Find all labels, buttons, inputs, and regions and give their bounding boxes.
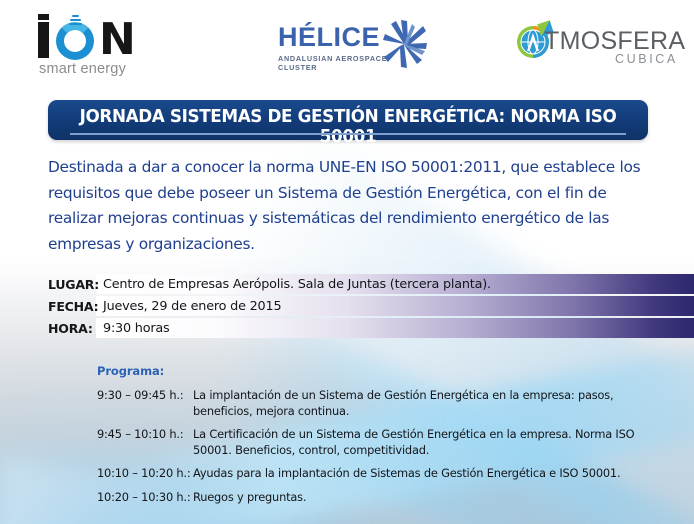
detail-row-lugar: LUGAR: Centro de Empresas Aerópolis. Sal… xyxy=(0,274,694,294)
event-details: LUGAR: Centro de Empresas Aerópolis. Sal… xyxy=(0,274,694,340)
detail-value-fecha: Jueves, 29 de enero de 2015 xyxy=(103,299,281,314)
helice-logo: HÉLICE ANDALUSIAN AEROSPACE CLUSTER xyxy=(278,22,428,78)
programa-item-time: 9:45 – 10:10 h.: xyxy=(97,427,193,458)
programa-item-time: 10:20 – 10:30 h.: xyxy=(97,490,193,506)
detail-value-lugar: Centro de Empresas Aerópolis. Sala de Ju… xyxy=(103,277,491,292)
programa-heading: Programa: xyxy=(97,364,657,378)
atmosfera-subtitle: CUBICA xyxy=(615,52,678,66)
detail-label-lugar: LUGAR: xyxy=(48,277,108,292)
title-underline xyxy=(70,133,626,135)
detail-row-hora: HORA: 9:30 horas xyxy=(0,318,694,338)
ion-letter-o-center xyxy=(66,32,84,50)
atmosfera-logo: TMOSFERA CUBICA xyxy=(516,22,676,72)
page-title: JORNADA SISTEMAS DE GESTIÓN ENERGÉTICA: … xyxy=(60,107,636,147)
ion-tagline: smart energy xyxy=(39,61,126,77)
ion-logo: N smart energy xyxy=(36,14,166,80)
programa-item-text: La Certificación de un Sistema de Gestió… xyxy=(193,427,657,458)
detail-label-hora: HORA: xyxy=(48,321,108,336)
programa-item-time: 9:30 – 09:45 h.: xyxy=(97,388,193,419)
ion-wordmark: N xyxy=(36,14,166,58)
ion-letter-i xyxy=(38,22,49,58)
title-banner: JORNADA SISTEMAS DE GESTIÓN ENERGÉTICA: … xyxy=(48,100,648,140)
programa-item: 10:10 – 10:20 h.: Ayudas para la implant… xyxy=(97,466,657,482)
ion-i-dot-icon xyxy=(38,14,49,20)
programa-item-text: Ruegos y preguntas. xyxy=(193,490,657,506)
detail-row-fecha: FECHA: Jueves, 29 de enero de 2015 xyxy=(0,296,694,316)
programa-item: 10:20 – 10:30 h.: Ruegos y preguntas. xyxy=(97,490,657,506)
detail-bar xyxy=(96,318,694,338)
programa-item-text: La implantación de un Sistema de Gestión… xyxy=(193,388,657,419)
programa-item: 9:45 – 10:10 h.: La Certificación de un … xyxy=(97,427,657,458)
programa-item: 9:30 – 09:45 h.: La implantación de un S… xyxy=(97,388,657,419)
propeller-icon xyxy=(382,18,428,70)
ion-spark-icon xyxy=(69,15,82,27)
description-text: Destinada a dar a conocer la norma UNE-E… xyxy=(48,155,652,257)
detail-value-hora: 9:30 horas xyxy=(103,321,170,336)
event-poster: N smart energy HÉLICE ANDALUSIAN AEROSPA… xyxy=(0,0,694,524)
ion-letter-n: N xyxy=(99,22,135,58)
programa-section: Programa: 9:30 – 09:45 h.: La implantaci… xyxy=(97,364,657,513)
programa-item-text: Ayudas para la implantación de Sistemas … xyxy=(193,466,657,482)
detail-label-fecha: FECHA: xyxy=(48,299,108,314)
logo-row: N smart energy HÉLICE ANDALUSIAN AEROSPA… xyxy=(0,0,694,88)
programa-item-time: 10:10 – 10:20 h.: xyxy=(97,466,193,482)
